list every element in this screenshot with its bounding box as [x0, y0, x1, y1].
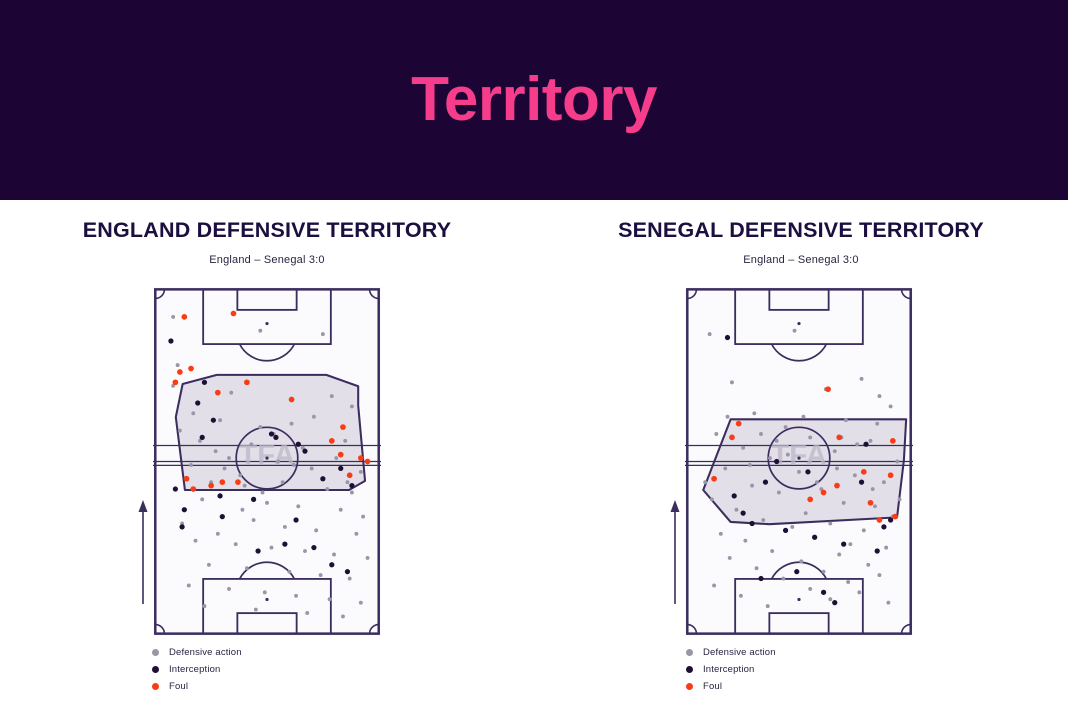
point-defensive-action: [296, 504, 300, 508]
point-defensive-action: [314, 528, 318, 532]
legend-label: Foul: [169, 681, 188, 692]
legend-item-interception-england[interactable]: Interception: [152, 661, 242, 678]
point-defensive-action: [781, 577, 785, 581]
legend-label: Foul: [703, 681, 722, 692]
point-defensive-action: [176, 363, 180, 367]
legend-swatch-icon: [152, 649, 159, 656]
point-defensive-action: [723, 466, 727, 470]
point-defensive-action: [330, 394, 334, 398]
point-defensive-action: [191, 411, 195, 415]
point-foul: [868, 500, 874, 506]
point-defensive-action: [875, 422, 879, 426]
point-defensive-action: [290, 422, 294, 426]
point-interception: [349, 483, 354, 488]
point-defensive-action: [350, 404, 354, 408]
point-foul: [836, 435, 842, 441]
point-foul: [177, 369, 183, 375]
point-defensive-action: [321, 332, 325, 336]
point-defensive-action: [305, 611, 309, 615]
point-defensive-action: [766, 604, 770, 608]
point-defensive-action: [866, 563, 870, 567]
point-foul: [338, 452, 344, 458]
attack-direction-arrow-senegal: [668, 500, 682, 610]
point-interception: [179, 524, 184, 529]
point-defensive-action: [793, 329, 797, 333]
pitch-senegal: TFA: [685, 287, 913, 636]
point-defensive-action: [728, 556, 732, 560]
point-interception: [821, 590, 826, 595]
point-defensive-action: [283, 525, 287, 529]
point-interception: [168, 338, 173, 343]
point-foul: [711, 476, 717, 482]
panel-england: ENGLAND DEFENSIVE TERRITORY England – Se…: [0, 200, 534, 712]
point-defensive-action: [350, 491, 354, 495]
point-foul: [184, 476, 190, 482]
page-title: Territory: [411, 69, 657, 131]
point-defensive-action: [270, 546, 274, 550]
point-defensive-action: [359, 470, 363, 474]
point-defensive-action: [218, 418, 222, 422]
legend-item-defensive-action-senegal[interactable]: Defensive action: [686, 644, 776, 661]
panel-subheading-england: England – Senegal 3:0: [0, 254, 534, 266]
point-interception: [329, 562, 334, 567]
point-foul: [861, 469, 867, 475]
point-defensive-action: [328, 597, 332, 601]
point-defensive-action: [828, 597, 832, 601]
point-defensive-action: [828, 522, 832, 526]
point-defensive-action: [294, 594, 298, 598]
territory-page: Territory ENGLAND DEFENSIVE TERRITORY En…: [0, 0, 1068, 712]
point-interception: [195, 400, 200, 405]
point-defensive-action: [216, 532, 220, 536]
legend-england: Defensive actionInterceptionFoul: [152, 644, 242, 695]
legend-swatch-icon: [686, 683, 693, 690]
point-defensive-action: [281, 480, 285, 484]
point-defensive-action: [857, 590, 861, 594]
point-defensive-action: [784, 425, 788, 429]
point-defensive-action: [346, 480, 350, 484]
point-defensive-action: [871, 487, 875, 491]
panel-senegal: SENEGAL DEFENSIVE TERRITORY England – Se…: [534, 200, 1068, 712]
point-interception: [282, 542, 287, 547]
point-foul: [834, 483, 840, 489]
point-defensive-action: [797, 470, 801, 474]
point-defensive-action: [837, 553, 841, 557]
legend-swatch-icon: [686, 649, 693, 656]
point-defensive-action: [853, 473, 857, 477]
point-interception: [338, 466, 343, 471]
legend-swatch-icon: [152, 683, 159, 690]
point-interception: [217, 493, 222, 498]
point-defensive-action: [815, 480, 819, 484]
point-interception: [302, 449, 307, 454]
point-interception: [200, 435, 205, 440]
point-defensive-action: [726, 415, 730, 419]
point-interception: [273, 435, 278, 440]
point-interception: [725, 335, 730, 340]
point-defensive-action: [194, 539, 198, 543]
point-defensive-action: [712, 584, 716, 588]
point-defensive-action: [234, 542, 238, 546]
point-interception: [888, 517, 893, 522]
point-defensive-action: [339, 508, 343, 512]
point-defensive-action: [359, 601, 363, 605]
point-foul: [729, 435, 735, 441]
point-defensive-action: [319, 573, 323, 577]
point-defensive-action: [878, 394, 882, 398]
point-interception: [774, 459, 779, 464]
point-foul: [890, 438, 896, 444]
point-defensive-action: [229, 391, 233, 395]
point-defensive-action: [348, 577, 352, 581]
point-defensive-action: [822, 570, 826, 574]
point-foul: [208, 483, 214, 489]
point-defensive-action: [895, 460, 899, 464]
point-interception: [202, 380, 207, 385]
point-foul: [340, 424, 346, 430]
point-defensive-action: [252, 518, 256, 522]
point-defensive-action: [833, 449, 837, 453]
point-interception: [832, 600, 837, 605]
point-defensive-action: [878, 573, 882, 577]
point-interception: [182, 507, 187, 512]
point-foul: [807, 497, 813, 503]
point-defensive-action: [848, 542, 852, 546]
title-banner: Territory: [0, 0, 1068, 200]
point-defensive-action: [846, 580, 850, 584]
watermark-tfa-england: TFA: [239, 439, 295, 472]
point-foul: [289, 397, 295, 403]
pitch-svg-england: TFA: [153, 287, 381, 636]
point-defensive-action: [249, 442, 253, 446]
point-defensive-action: [750, 484, 754, 488]
point-defensive-action: [786, 453, 790, 457]
point-interception: [763, 480, 768, 485]
point-defensive-action: [730, 380, 734, 384]
point-defensive-action: [748, 463, 752, 467]
point-defensive-action: [261, 491, 265, 495]
point-foul: [365, 459, 371, 465]
point-foul: [736, 421, 742, 427]
point-interception: [320, 476, 325, 481]
point-defensive-action: [238, 473, 242, 477]
point-foul: [235, 479, 241, 485]
panel-subheading-senegal: England – Senegal 3:0: [534, 254, 1068, 266]
point-foul: [215, 390, 221, 396]
point-defensive-action: [310, 466, 314, 470]
point-defensive-action: [227, 587, 231, 591]
point-defensive-action: [361, 515, 365, 519]
point-interception: [251, 497, 256, 502]
point-defensive-action: [189, 463, 193, 467]
point-defensive-action: [303, 549, 307, 553]
point-defensive-action: [804, 511, 808, 515]
point-defensive-action: [886, 601, 890, 605]
point-interception: [875, 548, 880, 553]
legend-item-interception-senegal[interactable]: Interception: [686, 661, 776, 678]
point-interception: [732, 493, 737, 498]
panel-heading-senegal: SENEGAL DEFENSIVE TERRITORY: [534, 218, 1068, 243]
point-defensive-action: [258, 329, 262, 333]
point-defensive-action: [708, 332, 712, 336]
point-defensive-action: [227, 456, 231, 460]
point-foul: [190, 486, 196, 492]
point-foul: [173, 379, 179, 385]
point-defensive-action: [276, 460, 280, 464]
point-defensive-action: [202, 604, 206, 608]
point-foul: [892, 514, 898, 520]
point-foul: [347, 472, 353, 478]
point-interception: [812, 535, 817, 540]
point-defensive-action: [171, 315, 175, 319]
point-interception: [841, 542, 846, 547]
legend-swatch-icon: [152, 666, 159, 673]
legend-item-foul-senegal[interactable]: Foul: [686, 678, 776, 695]
point-interception: [269, 431, 274, 436]
point-interception: [741, 511, 746, 516]
point-defensive-action: [860, 377, 864, 381]
point-defensive-action: [790, 525, 794, 529]
point-defensive-action: [734, 508, 738, 512]
point-defensive-action: [312, 415, 316, 419]
point-defensive-action: [200, 497, 204, 501]
point-defensive-action: [761, 518, 765, 522]
point-defensive-action: [842, 501, 846, 505]
point-defensive-action: [243, 484, 247, 488]
point-interception: [881, 524, 886, 529]
point-defensive-action: [884, 546, 888, 550]
point-defensive-action: [240, 508, 244, 512]
legend-label: Defensive action: [703, 647, 776, 658]
point-defensive-action: [366, 556, 370, 560]
point-defensive-action: [808, 435, 812, 439]
point-defensive-action: [873, 504, 877, 508]
point-defensive-action: [719, 532, 723, 536]
point-defensive-action: [889, 404, 893, 408]
attack-direction-arrow-england: [136, 500, 150, 610]
legend-label: Interception: [703, 664, 754, 675]
point-defensive-action: [835, 466, 839, 470]
point-defensive-action: [741, 446, 745, 450]
legend-label: Interception: [169, 664, 220, 675]
point-foul: [219, 479, 225, 485]
point-defensive-action: [898, 497, 902, 501]
point-defensive-action: [214, 449, 218, 453]
point-defensive-action: [755, 566, 759, 570]
point-foul: [188, 366, 194, 372]
point-interception: [859, 480, 864, 485]
point-foul: [329, 438, 335, 444]
point-defensive-action: [265, 501, 269, 505]
point-defensive-action: [187, 584, 191, 588]
point-foul: [825, 386, 831, 392]
point-interception: [863, 442, 868, 447]
point-interception: [758, 576, 763, 581]
pitch-england: TFA: [153, 287, 381, 636]
point-defensive-action: [775, 439, 779, 443]
point-defensive-action: [855, 442, 859, 446]
point-interception: [296, 442, 301, 447]
point-interception: [805, 469, 810, 474]
point-interception: [794, 569, 799, 574]
point-defensive-action: [178, 429, 182, 433]
point-defensive-action: [777, 491, 781, 495]
point-interception: [255, 548, 260, 553]
point-interception: [211, 418, 216, 423]
point-interception: [345, 569, 350, 574]
point-defensive-action: [343, 439, 347, 443]
legend-item-foul-england[interactable]: Foul: [152, 678, 242, 695]
point-defensive-action: [844, 418, 848, 422]
point-foul: [821, 490, 827, 496]
point-defensive-action: [714, 432, 718, 436]
point-defensive-action: [808, 587, 812, 591]
point-defensive-action: [245, 566, 249, 570]
point-defensive-action: [739, 594, 743, 598]
point-defensive-action: [287, 570, 291, 574]
point-defensive-action: [862, 528, 866, 532]
legend-item-defensive-action-england[interactable]: Defensive action: [152, 644, 242, 661]
point-interception: [220, 514, 225, 519]
point-defensive-action: [768, 456, 772, 460]
legend-senegal: Defensive actionInterceptionFoul: [686, 644, 776, 695]
legend-swatch-icon: [686, 666, 693, 673]
point-defensive-action: [799, 559, 803, 563]
point-interception: [749, 521, 754, 526]
legend-label: Defensive action: [169, 647, 242, 658]
point-interception: [293, 517, 298, 522]
point-foul: [231, 311, 237, 317]
point-defensive-action: [710, 497, 714, 501]
watermark-tfa-senegal: TFA: [771, 439, 827, 472]
point-interception: [173, 486, 178, 491]
point-defensive-action: [292, 463, 296, 467]
point-defensive-action: [743, 539, 747, 543]
point-defensive-action: [770, 549, 774, 553]
point-foul: [181, 314, 187, 320]
point-defensive-action: [882, 480, 886, 484]
point-foul: [877, 517, 883, 523]
point-defensive-action: [341, 614, 345, 618]
point-foul: [888, 472, 894, 478]
point-defensive-action: [802, 415, 806, 419]
point-defensive-action: [332, 553, 336, 557]
point-defensive-action: [354, 532, 358, 536]
point-defensive-action: [263, 590, 267, 594]
pitch-svg-senegal: TFA: [685, 287, 913, 636]
point-foul: [244, 379, 250, 385]
point-defensive-action: [759, 432, 763, 436]
point-defensive-action: [752, 411, 756, 415]
point-defensive-action: [223, 466, 227, 470]
panel-heading-england: ENGLAND DEFENSIVE TERRITORY: [0, 218, 534, 243]
point-interception: [783, 528, 788, 533]
point-defensive-action: [869, 439, 873, 443]
point-foul: [358, 455, 364, 461]
point-defensive-action: [334, 456, 338, 460]
point-defensive-action: [703, 480, 707, 484]
point-defensive-action: [207, 563, 211, 567]
point-defensive-action: [325, 487, 329, 491]
point-defensive-action: [258, 425, 262, 429]
point-defensive-action: [254, 608, 258, 612]
point-interception: [311, 545, 316, 550]
